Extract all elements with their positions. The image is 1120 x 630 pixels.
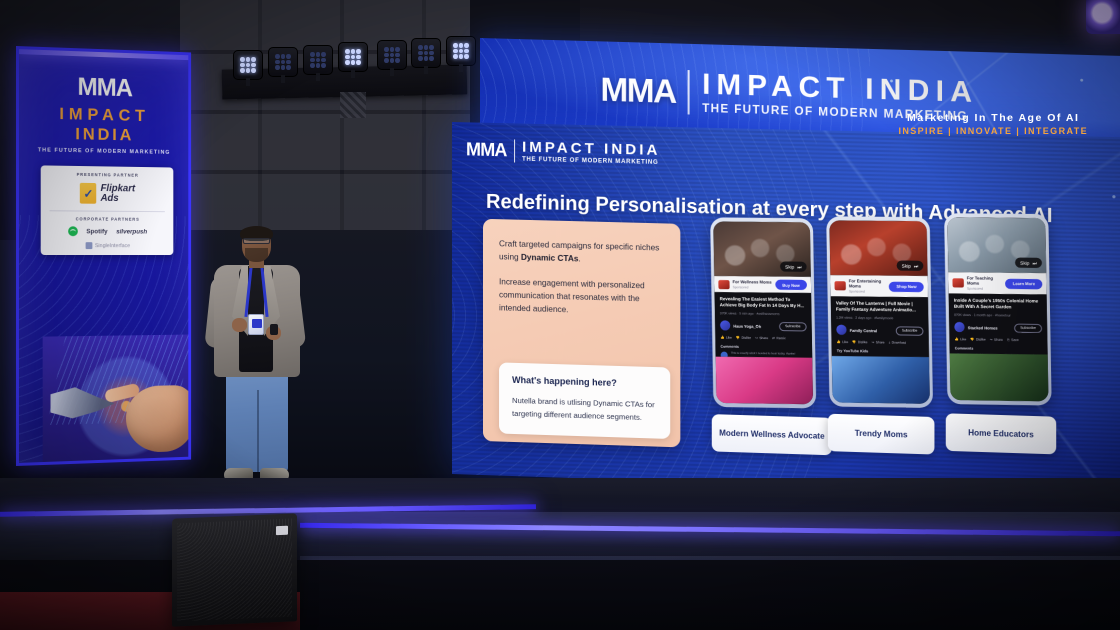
ad-advertiser-name: For Entertaining Moms: [849, 278, 886, 288]
spotify-icon: [68, 226, 78, 236]
par-light-icon: [446, 36, 476, 66]
stage-monitor-speaker: [172, 513, 297, 626]
subscribe-button[interactable]: Subscribe: [896, 326, 924, 335]
skip-ad-button[interactable]: Skip⏭: [896, 260, 923, 270]
video-action-bar[interactable]: 👍Like 👎Dislike ↪Share ⇄Remix: [720, 336, 807, 341]
dislike-action: 👎Dislike: [852, 340, 867, 344]
channel-name: Haus Yoga_Oh: [733, 323, 776, 329]
robot-hand-icon: [51, 383, 115, 430]
advertiser-logo-icon: [952, 278, 963, 287]
stage-scene: MMA IMPACT INDIA THE FUTURE OF MODERN MA…: [0, 0, 1120, 630]
video-meta: 1.2M views · 2 days ago · #familymovie: [836, 316, 923, 321]
remix-action: ⇄Remix: [772, 336, 786, 340]
comments-label: Comments: [720, 345, 807, 350]
skip-ad-button[interactable]: Skip⏭: [1015, 258, 1042, 268]
comments-label: Comments: [955, 347, 1043, 352]
download-action: ⤓Download: [889, 341, 907, 345]
save-icon: ⎘: [1007, 338, 1010, 342]
divider: [50, 210, 165, 212]
download-icon: ⤓: [889, 341, 891, 345]
like-action: 👍Like: [837, 340, 849, 344]
par-light-icon: [338, 42, 368, 72]
whats-happening-card: What's happening here? Nutella brand is …: [499, 362, 670, 439]
whats-happening-body: Nutella brand is utlising Dynamic CTAs f…: [512, 394, 657, 425]
led-mma-logo: MMA: [600, 71, 675, 112]
video-title: Inside A Couple's 1950s Colonial Home Bu…: [954, 298, 1042, 312]
led-impact-text: IMPACT INDIA: [702, 70, 978, 108]
logo-divider: [688, 70, 690, 114]
thumbs-down-icon: 👎: [736, 336, 740, 340]
thumbs-down-icon: 👎: [970, 338, 974, 342]
slide-logo: MMA IMPACT INDIA THE FUTURE OF MODERN MA…: [466, 138, 660, 166]
skip-next-icon: ⏭: [797, 264, 801, 269]
ad-sponsored-label: Sponsored: [967, 287, 1003, 291]
standee-tagline: THE FUTURE OF MODERN MARKETING: [19, 147, 188, 156]
spotify-label: Spotify: [86, 228, 107, 235]
card-paragraph-1: Craft targeted campaigns for specific ni…: [499, 237, 664, 268]
ad-advertiser-name: For Wellness Moms: [733, 279, 773, 284]
video-action-bar[interactable]: 👍Like 👎Dislike ↪Share ⎘Save: [955, 337, 1043, 342]
share-action: ↪Share: [755, 336, 768, 340]
led-tagline-block: Marketing In The Age Of AI INSPIRE | INN…: [898, 112, 1088, 136]
next-video-thumbnail[interactable]: [716, 357, 814, 405]
presentation-slide: MMA IMPACT INDIA THE FUTURE OF MODERN MA…: [452, 122, 1120, 497]
channel-row[interactable]: Haus Yoga_Oh Subscribe: [720, 321, 807, 332]
flipkart-bag-icon: ✓: [80, 183, 96, 204]
par-light-icon: [377, 40, 407, 70]
channel-name: Family Central: [850, 328, 893, 334]
presentation-clicker: [270, 324, 278, 335]
truss-leg: [340, 92, 366, 118]
silverpush-label: silverpush: [116, 228, 147, 235]
tagline-inspire-innovate-integrate: INSPIRE | INNOVATE | INTEGRATE: [898, 126, 1088, 136]
channel-row[interactable]: Family Central Subscribe: [836, 325, 923, 336]
tagline-age-of-ai: Marketing In The Age Of AI: [898, 112, 1088, 124]
presenter-left-hand: [232, 318, 247, 332]
ad-sponsored-label: Sponsored: [733, 285, 773, 289]
standee-top-glow: [19, 49, 188, 60]
ad-advertiser-name: For Teaching Moms: [967, 275, 1003, 286]
video-meta: 370K views · 5 min ago · #wellnessmoms: [720, 312, 807, 317]
phone-ad-banner[interactable]: For Wellness Moms Sponsored Buy Now: [714, 276, 811, 293]
share-icon: ↪: [990, 338, 993, 342]
video-title: Valley Of The Lanterns | Full Movie | Fa…: [836, 300, 923, 314]
ad-sponsored-label: Sponsored: [849, 289, 886, 293]
video-meta: 870K views · 1 month ago · #hometour: [954, 313, 1042, 318]
channel-avatar: [720, 321, 730, 331]
phone-screen: Skip⏭ For Wellness Moms Sponsored Buy No…: [713, 222, 813, 405]
slide-mma-text: MMA: [466, 139, 507, 161]
next-video-thumbnail[interactable]: [832, 356, 930, 404]
standee-logo: MMA IMPACT INDIA THE FUTURE OF MODERN MA…: [19, 71, 188, 156]
share-action: ↪Share: [990, 338, 1003, 342]
thumbs-up-icon: 👍: [720, 336, 724, 340]
ad-cta-button[interactable]: Learn More: [1005, 278, 1042, 289]
singleinterface-icon: [85, 242, 92, 249]
skip-ad-button[interactable]: Skip⏭: [780, 261, 807, 271]
dislike-action: 👎Dislike: [736, 336, 751, 340]
phone-screen: Skip⏭ For Entertaining Moms Sponsored Sh…: [829, 220, 930, 403]
channel-avatar: [954, 322, 964, 332]
video-action-bar[interactable]: 👍Like 👎Dislike ↪Share ⤓Download: [837, 340, 924, 345]
ad-cta-button[interactable]: Shop Now: [889, 281, 924, 291]
slide-logo-divider: [514, 139, 515, 162]
skip-next-icon: ⏭: [914, 263, 918, 268]
advertiser-logo-icon: [718, 280, 729, 289]
par-light-icon: [233, 50, 263, 80]
presenter-beard: [245, 248, 268, 262]
slide-text-card: Craft targeted campaigns for specific ni…: [483, 219, 680, 448]
whats-happening-heading: What's happening here?: [512, 375, 657, 389]
ad-cta-button[interactable]: Buy Now: [775, 280, 807, 290]
slide-impact-text: IMPACT INDIA: [522, 140, 660, 158]
kids-promo-title: Try YouTube Kids: [837, 349, 924, 354]
phone-mockup-home-educators: Skip⏭ For Teaching Moms Sponsored Learn …: [944, 213, 1052, 405]
channel-avatar: [836, 325, 846, 335]
par-light-icon: [268, 47, 298, 77]
glasses-icon: [243, 238, 270, 244]
like-action: 👍Like: [955, 337, 967, 341]
standee-mma-text: MMA: [19, 71, 188, 105]
subscribe-button[interactable]: Subscribe: [779, 322, 807, 331]
skip-next-icon: ⏭: [1032, 260, 1036, 265]
thumbs-up-icon: 👍: [955, 337, 959, 341]
channel-name: Stacked Homes: [968, 325, 1011, 331]
thumbs-down-icon: 👎: [852, 340, 856, 344]
flipkart-sub: Ads: [101, 193, 136, 203]
thumbs-up-icon: 👍: [837, 340, 841, 344]
phone-ad-banner[interactable]: For Entertaining Moms Sponsored Shop Now: [830, 275, 928, 297]
par-light-icon: [1086, 0, 1120, 34]
video-title: Revealing The Easiest Method To Achieve …: [720, 296, 807, 310]
remix-icon: ⇄: [772, 336, 775, 340]
next-video-thumbnail[interactable]: [950, 353, 1049, 401]
flipkart-partner: ✓ Flipkart Ads: [46, 182, 169, 204]
segment-button-modern-wellness-advocate[interactable]: Modern Wellness Advocate: [712, 414, 832, 455]
par-light-icon: [303, 45, 333, 75]
channel-row[interactable]: Stacked Homes Subscribe: [954, 322, 1042, 333]
phone-video-player[interactable]: Skip⏭: [713, 222, 811, 277]
sponsor-standee-banner: MMA IMPACT INDIA THE FUTURE OF MODERN MA…: [16, 46, 191, 466]
segment-button-home-educators[interactable]: Home Educators: [946, 413, 1056, 454]
corporate-partners-label: CORPORATE PARTNERS: [46, 216, 169, 222]
phone-video-info: Revealing The Easiest Method To Achieve …: [714, 292, 812, 358]
singleinterface-label: SingleInterface: [95, 243, 130, 249]
share-icon: ↪: [755, 336, 758, 340]
presenting-partner-label: PRESENTING PARTNER: [46, 171, 169, 178]
share-action: ↪Share: [872, 341, 885, 345]
phone-video-info: Inside A Couple's 1950s Colonial Home Bu…: [949, 293, 1048, 354]
phone-mockup-wellness: Skip⏭ For Wellness Moms Sponsored Buy No…: [710, 217, 816, 408]
phone-ad-banner[interactable]: For Teaching Moms Sponsored Learn More: [948, 272, 1046, 294]
speaker-brand-logo-icon: [276, 526, 288, 536]
ai-hands-artwork: [43, 334, 191, 466]
dislike-action: 👎Dislike: [970, 338, 985, 342]
corporate-partner-row: Spotify silverpush: [46, 226, 169, 236]
segment-button-trendy-moms[interactable]: Trendy Moms: [828, 414, 935, 455]
share-icon: ↪: [872, 341, 875, 345]
partner-card: PRESENTING PARTNER ✓ Flipkart Ads CORPOR…: [41, 165, 174, 255]
phone-video-info: Valley Of The Lanterns | Full Movie | Fa…: [831, 296, 929, 357]
phone-mockup-trendy-moms: Skip⏭ For Entertaining Moms Sponsored Sh…: [826, 216, 933, 408]
presenter-jeans: [226, 368, 288, 472]
standee-india-text: INDIA: [19, 123, 188, 146]
conference-badge: [248, 314, 264, 335]
advertiser-logo-icon: [834, 281, 845, 290]
phone-video-player[interactable]: Skip⏭: [947, 217, 1046, 273]
presenter: [204, 228, 308, 490]
card-paragraph-2: Increase engagement with personalized co…: [499, 275, 664, 320]
singleinterface-row: SingleInterface: [46, 242, 169, 249]
save-action: ⎘Save: [1007, 338, 1019, 342]
phone-screen: Skip⏭ For Teaching Moms Sponsored Learn …: [947, 217, 1048, 401]
phone-video-player[interactable]: Skip⏭: [829, 220, 927, 276]
like-action: 👍Like: [720, 336, 732, 340]
standee-frame: MMA IMPACT INDIA THE FUTURE OF MODERN MA…: [16, 46, 191, 466]
subscribe-button[interactable]: Subscribe: [1014, 323, 1042, 332]
par-light-icon: [411, 38, 441, 68]
